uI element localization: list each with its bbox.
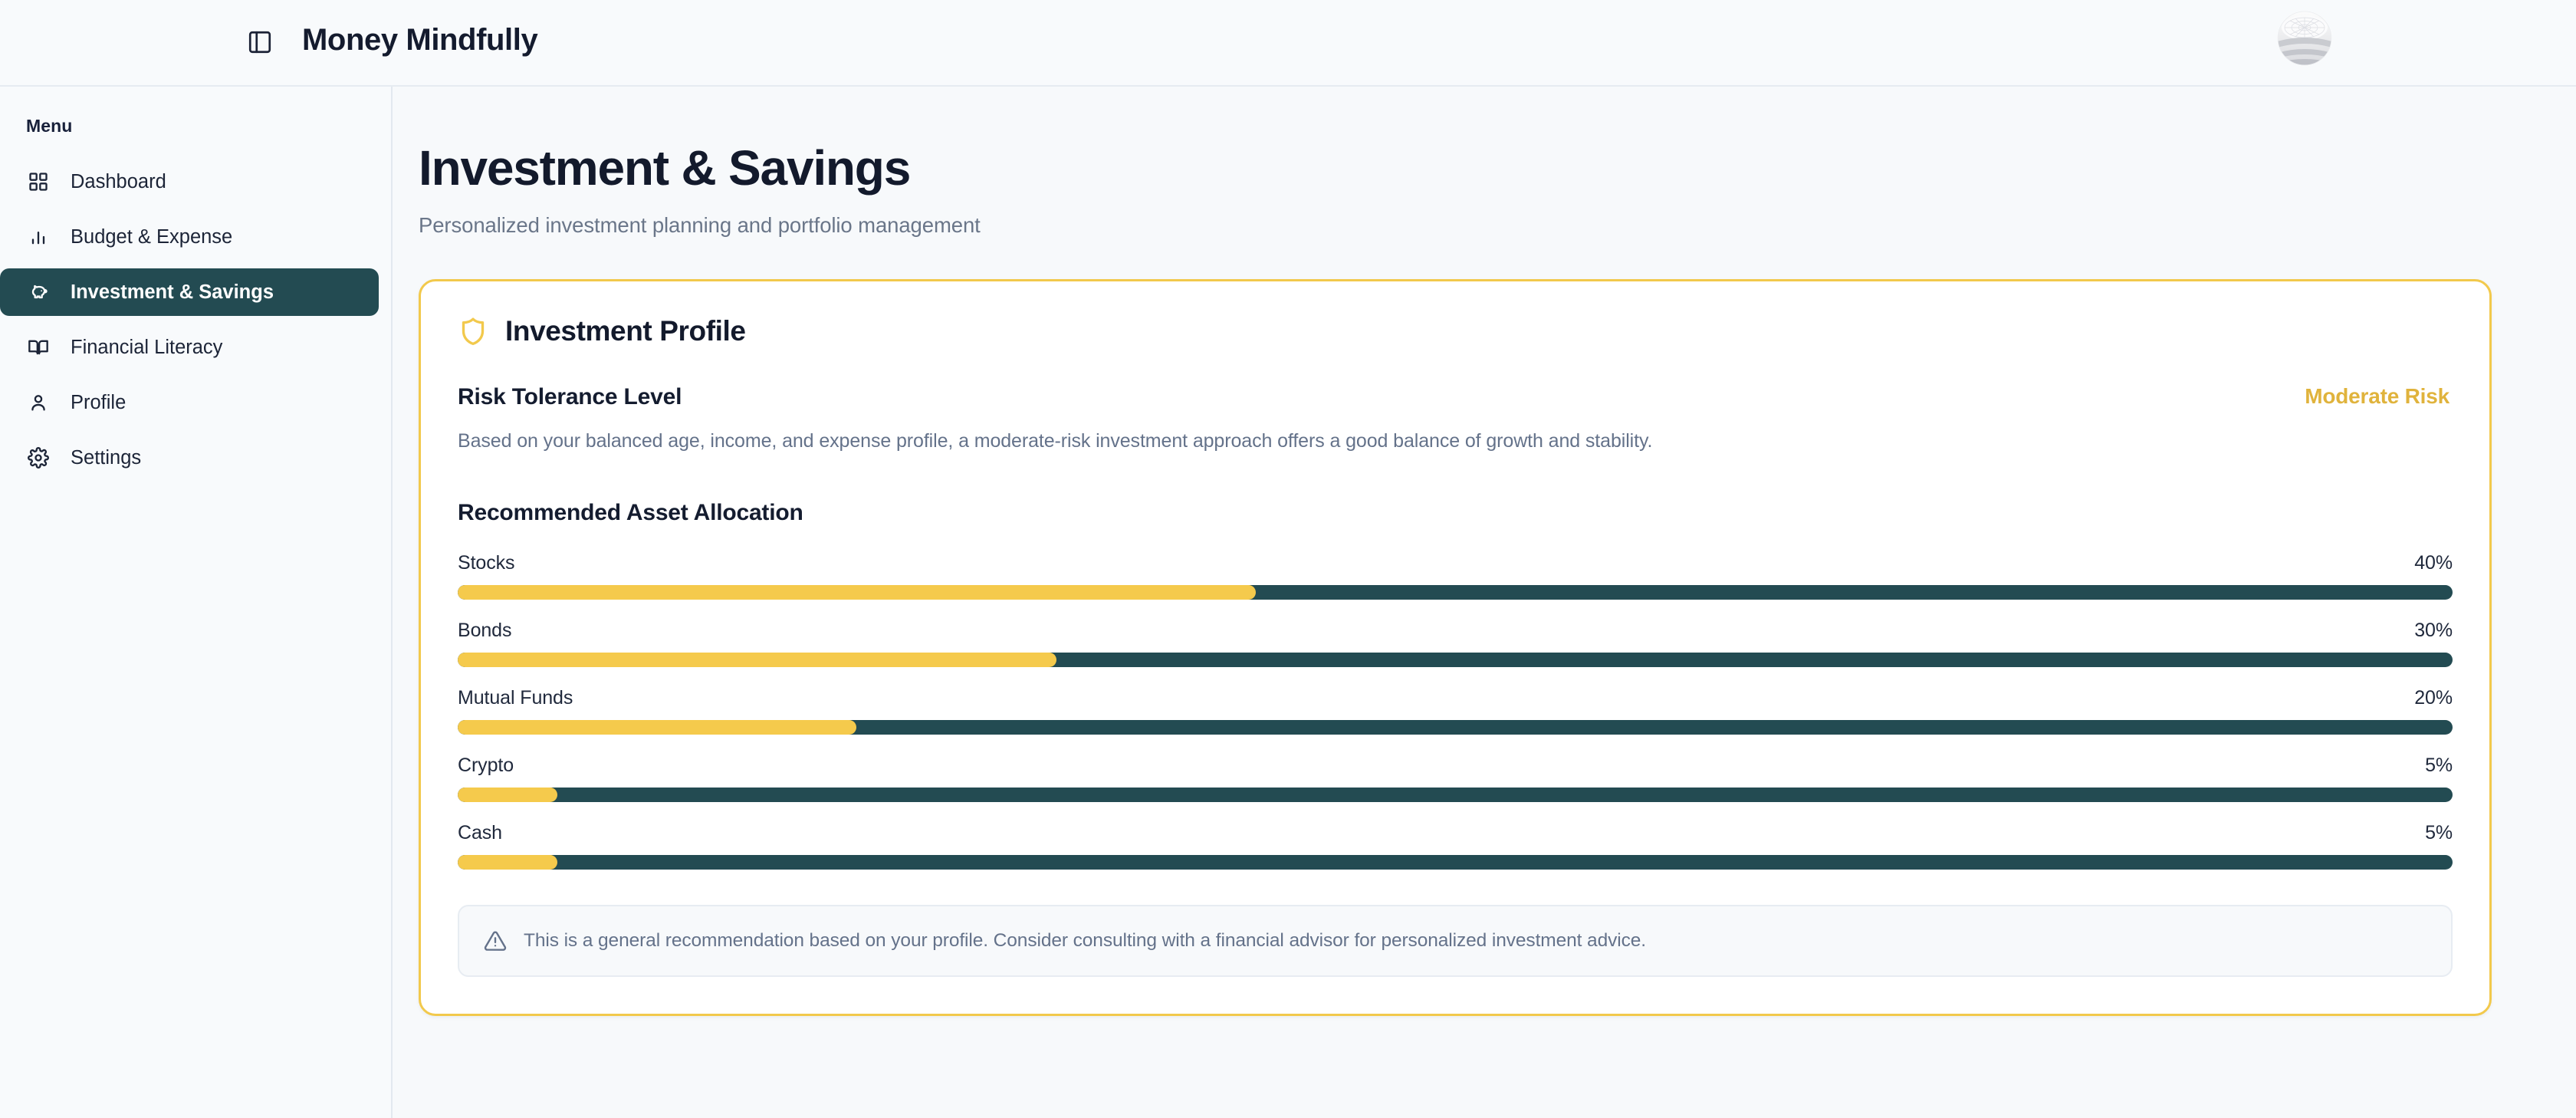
allocation-value: 20%: [2414, 687, 2453, 709]
allocation-label: Bonds: [458, 620, 511, 642]
book-open-icon: [26, 335, 51, 360]
sidebar-item-dashboard[interactable]: Dashboard: [0, 158, 379, 206]
risk-tolerance-row: Risk Tolerance Level Moderate Risk: [458, 384, 2453, 410]
allocation-value: 5%: [2425, 822, 2453, 844]
piggy-bank-icon: [26, 280, 51, 304]
allocation-value: 5%: [2425, 755, 2453, 777]
risk-tolerance-label: Risk Tolerance Level: [458, 384, 682, 410]
shield-icon: [458, 316, 488, 347]
allocation-bar-fill: [458, 788, 557, 802]
sidebar-item-profile[interactable]: Profile: [0, 379, 379, 426]
panel-left-icon: [247, 29, 273, 58]
allocation-row: Bonds 30%: [458, 620, 2453, 667]
app-title: Money Mindfully: [302, 23, 537, 58]
page-subtitle: Personalized investment planning and por…: [419, 213, 2490, 238]
card-header: Investment Profile: [458, 315, 2453, 347]
sidebar-item-label: Financial Literacy: [71, 337, 222, 359]
main-content: Investment & Savings Personalized invest…: [393, 87, 2576, 1118]
risk-description: Based on your balanced age, income, and …: [458, 430, 2453, 452]
allocation-bar-track: [458, 788, 2453, 802]
allocation-row: Stocks 40%: [458, 552, 2453, 600]
user-avatar-image: [2277, 11, 2332, 66]
bar-chart-icon: [26, 225, 51, 249]
sidebar-heading: Menu: [0, 116, 391, 136]
sidebar: Menu Dashboard Budget & Expense: [0, 87, 393, 1118]
page-title: Investment & Savings: [419, 143, 2490, 194]
disclaimer-notice: This is a general recommendation based o…: [458, 905, 2453, 977]
sidebar-item-settings[interactable]: Settings: [0, 434, 379, 482]
sidebar-toggle-button[interactable]: [242, 25, 278, 61]
sidebar-item-budget-expense[interactable]: Budget & Expense: [0, 213, 379, 261]
allocation-label: Crypto: [458, 755, 514, 777]
sidebar-nav: Dashboard Budget & Expense Investment & …: [0, 158, 391, 489]
top-bar: Money Mindfully: [0, 0, 2576, 87]
allocation-value: 30%: [2414, 620, 2453, 642]
avatar[interactable]: [2277, 11, 2332, 66]
allocation-label: Mutual Funds: [458, 687, 573, 709]
allocation-label: Stocks: [458, 552, 514, 574]
allocation-value: 40%: [2414, 552, 2453, 574]
allocation-bar-track: [458, 653, 2453, 667]
gear-icon: [26, 446, 51, 470]
allocation-title: Recommended Asset Allocation: [458, 500, 2453, 526]
allocation-list: Stocks 40% Bonds 30% Mutual Funds: [458, 552, 2453, 870]
card-title: Investment Profile: [505, 315, 746, 347]
status-badge: Moderate Risk: [2305, 384, 2453, 409]
allocation-bar-track: [458, 720, 2453, 735]
allocation-label: Cash: [458, 822, 502, 844]
sidebar-item-label: Investment & Savings: [71, 281, 274, 304]
disclaimer-text: This is a general recommendation based o…: [524, 930, 1646, 952]
investment-profile-card: Investment Profile Risk Tolerance Level …: [419, 279, 2492, 1016]
allocation-bar-track: [458, 855, 2453, 870]
allocation-row: Cash 5%: [458, 822, 2453, 870]
allocation-bar-fill: [458, 585, 1256, 600]
sidebar-item-label: Profile: [71, 392, 126, 414]
warning-triangle-icon: [484, 929, 507, 952]
allocation-bar-track: [458, 585, 2453, 600]
allocation-row: Crypto 5%: [458, 755, 2453, 802]
allocation-row: Mutual Funds 20%: [458, 687, 2453, 735]
layout-grid-icon: [26, 169, 51, 194]
allocation-bar-fill: [458, 653, 1056, 667]
sidebar-item-label: Dashboard: [71, 171, 166, 193]
sidebar-item-financial-literacy[interactable]: Financial Literacy: [0, 324, 379, 371]
sidebar-item-label: Settings: [71, 447, 141, 469]
allocation-bar-fill: [458, 720, 856, 735]
sidebar-item-investment-savings[interactable]: Investment & Savings: [0, 268, 379, 316]
sidebar-item-label: Budget & Expense: [71, 226, 232, 248]
allocation-bar-fill: [458, 855, 557, 870]
user-icon: [26, 390, 51, 415]
